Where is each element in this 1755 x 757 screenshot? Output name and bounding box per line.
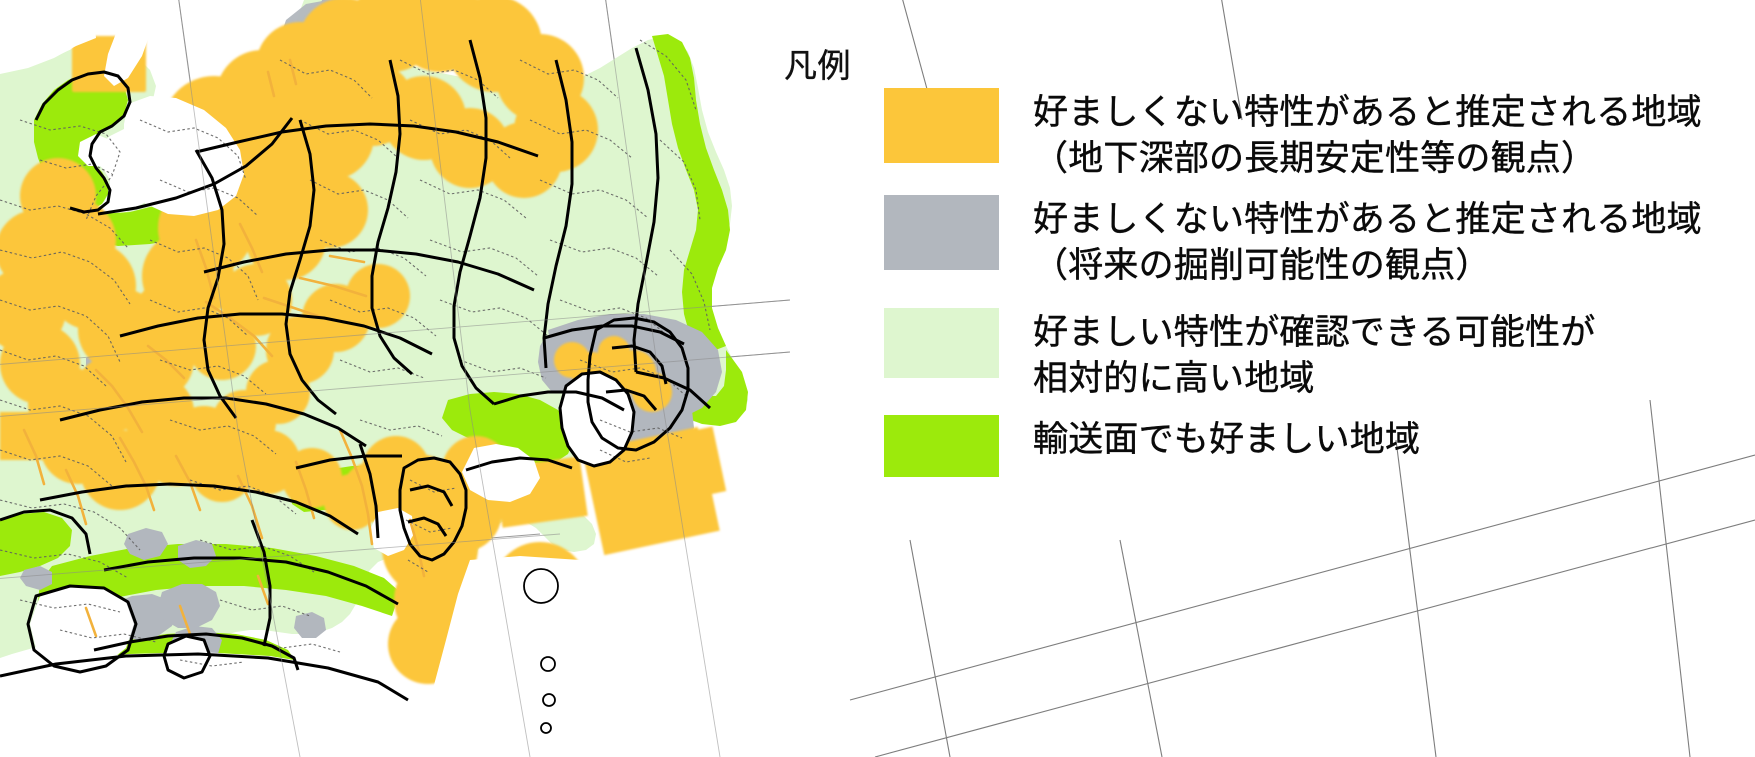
legend-item-label: 輸送面でも好ましい地域	[1033, 415, 1420, 463]
legend-item-label: 好ましくない特性があると推定される地域 （将来の掘削可能性の観点）	[1033, 195, 1702, 289]
legend-item-unfavorable-deep[interactable]: 好ましくない特性があると推定される地域 （地下深部の長期安定性等の観点）	[884, 88, 1702, 182]
map-legend: 凡例 好ましくない特性があると推定される地域 （地下深部の長期安定性等の観点） …	[784, 40, 1752, 510]
legend-title: 凡例	[784, 49, 851, 82]
legend-item-label: 好ましい特性が確認できる可能性が 相対的に高い地域	[1033, 308, 1596, 402]
map-panel[interactable]	[0, 0, 790, 757]
favorable-transport-swatch	[884, 415, 999, 477]
legend-item-favorable-likely[interactable]: 好ましい特性が確認できる可能性が 相対的に高い地域	[884, 308, 1596, 402]
legend-item-favorable-transport[interactable]: 輸送面でも好ましい地域	[884, 415, 1420, 477]
unfavorable-deep-stability-swatch	[884, 88, 999, 163]
legend-item-unfavorable-excavation[interactable]: 好ましくない特性があると推定される地域 （将来の掘削可能性の観点）	[884, 195, 1702, 289]
unfavorable-excavation-swatch	[884, 195, 999, 270]
suitability-map[interactable]	[0, 0, 790, 757]
favorable-likely-swatch	[884, 308, 999, 378]
legend-item-label: 好ましくない特性があると推定される地域 （地下深部の長期安定性等の観点）	[1033, 88, 1702, 182]
figure-page: 凡例 好ましくない特性があると推定される地域 （地下深部の長期安定性等の観点） …	[0, 0, 1755, 757]
